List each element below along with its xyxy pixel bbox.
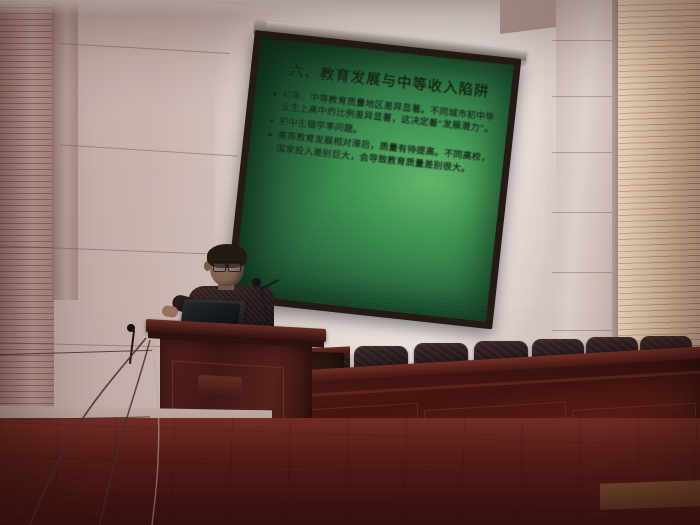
glasses-icon — [213, 261, 241, 271]
floor-strip-right — [600, 480, 700, 509]
slide-bullet-list: 初等、中等教育质量地区差异显著。不同城市初中毕业生上高中的比例差异显著，这决定着… — [265, 87, 497, 177]
lecture-hall-photo: 六、教育发展与中等收入陷阱 初等、中等教育质量地区差异显著。不同城市初中毕业生上… — [0, 0, 700, 525]
microphone-icon — [252, 278, 261, 287]
floor-cables — [0, 300, 240, 525]
left-pilaster — [52, 0, 78, 300]
